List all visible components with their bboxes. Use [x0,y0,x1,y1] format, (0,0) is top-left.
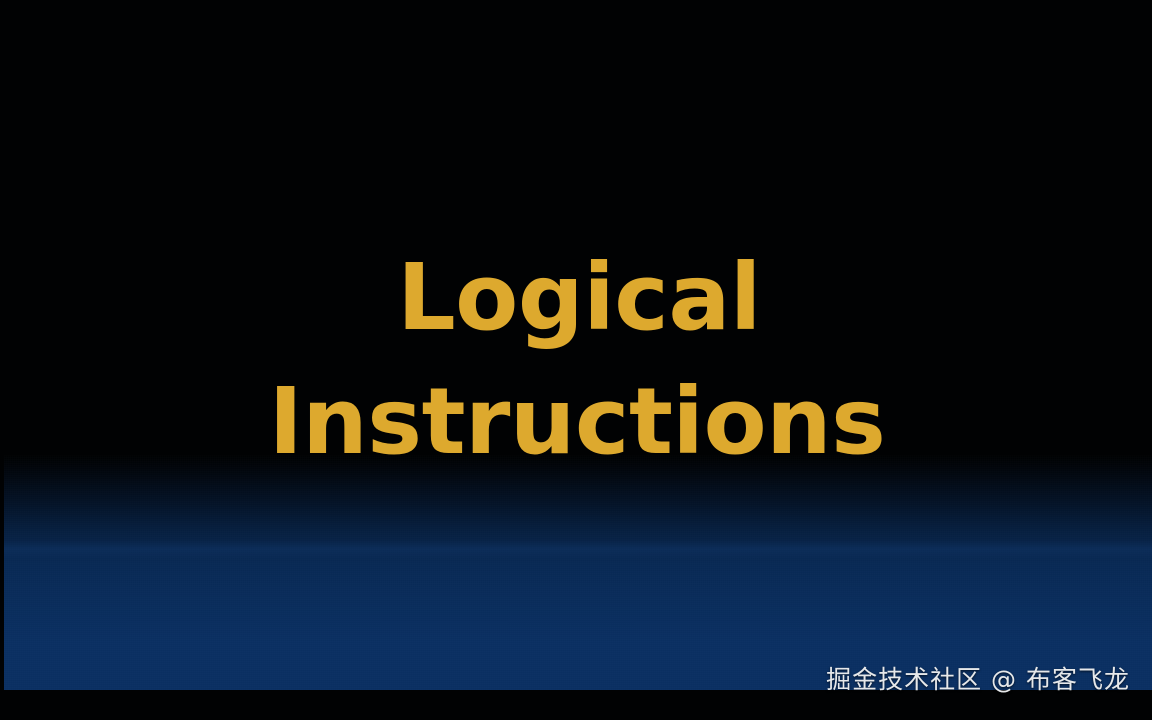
blue-gradient-glow [4,455,1152,690]
title-line-2: Instructions [2,376,1152,468]
slide-canvas: Logical Instructions 掘金技术社区 @ 布客飞龙 [0,0,1152,720]
slide-title: Logical Instructions [0,252,1152,468]
title-line-1: Logical [6,252,1152,344]
watermark-text: 掘金技术社区 @ 布客飞龙 [826,665,1130,695]
